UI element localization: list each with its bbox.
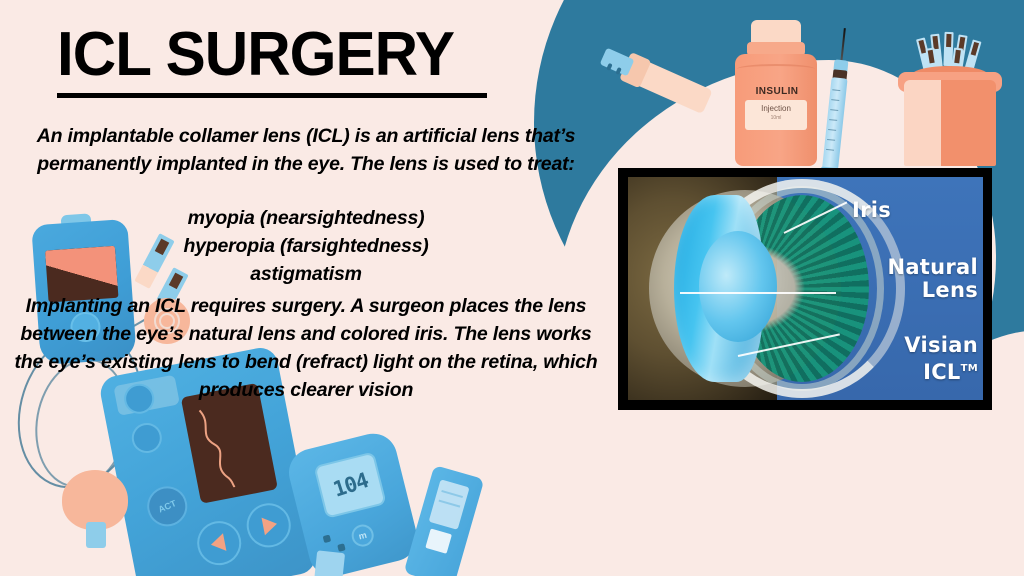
arrow-left-icon	[209, 533, 226, 553]
label-visian-icl: Visian ICLTM	[836, 334, 978, 384]
eye-diagram-frame: Iris Natural Lens Visian ICLTM	[618, 168, 992, 410]
condition-item: astigmatism	[8, 260, 604, 288]
title-block: ICL SURGERY	[57, 22, 487, 98]
page-title: ICL SURGERY	[57, 22, 474, 87]
label-natural-lens: Natural Lens	[836, 256, 978, 302]
label-visian-icl-text: ICL	[923, 360, 961, 384]
lancet-dot	[606, 63, 613, 71]
glucose-reading-value: 104	[330, 468, 371, 502]
icl-lens-optic	[699, 231, 777, 343]
insulin-label-box: Injection 10ml	[745, 100, 807, 130]
label-visian-line2: ICLTM	[836, 357, 978, 384]
insulin-bottle-illustration: INSULIN Injection 10ml	[733, 20, 819, 166]
bulb-body	[62, 470, 128, 530]
insulin-bottle-shoulder	[737, 64, 815, 74]
jar-body	[904, 80, 996, 166]
label-iris: Iris	[852, 199, 891, 222]
trademark-symbol: TM	[961, 363, 978, 374]
label-natural-lens-line1: Natural	[836, 256, 978, 279]
insulin-label-subtitle: Injection	[745, 104, 807, 113]
screen-waveform-icon	[189, 398, 268, 493]
condition-item: myopia (nearsightedness)	[8, 204, 604, 232]
test-strip-jar-illustration	[898, 36, 1002, 166]
body-copy-column: An implantable collamer lens (ICL) is an…	[8, 122, 604, 404]
intro-paragraph: An implantable collamer lens (ICL) is an…	[8, 122, 604, 178]
label-natural-lens-line2: Lens	[836, 279, 978, 302]
insulin-label-fineprint: 10ml	[745, 115, 807, 121]
bulb-neck	[86, 522, 106, 548]
conditions-list: myopia (nearsightedness) hyperopia (fars…	[8, 204, 604, 288]
procedure-paragraph: Implanting an ICL requires surgery. A su…	[8, 292, 604, 404]
slide-canvas: INSULIN Injection 10ml	[0, 0, 1024, 576]
insulin-label-title: INSULIN	[741, 86, 813, 97]
arrow-right-icon	[262, 515, 279, 535]
glucometer-small-strip	[313, 550, 345, 576]
label-visian-line1: Visian	[836, 334, 978, 357]
lancet-dot	[615, 67, 622, 75]
eye-diagram-image: Iris Natural Lens Visian ICLTM	[628, 177, 983, 400]
condition-item: hyperopia (farsightedness)	[8, 232, 604, 260]
lancing-device-illustration	[404, 465, 485, 576]
bulb-illustration	[62, 470, 128, 546]
syringe-barrel	[822, 77, 848, 170]
title-underline	[57, 93, 487, 98]
syringe-needle	[840, 28, 846, 62]
leader-line-natural-lens	[680, 292, 836, 294]
